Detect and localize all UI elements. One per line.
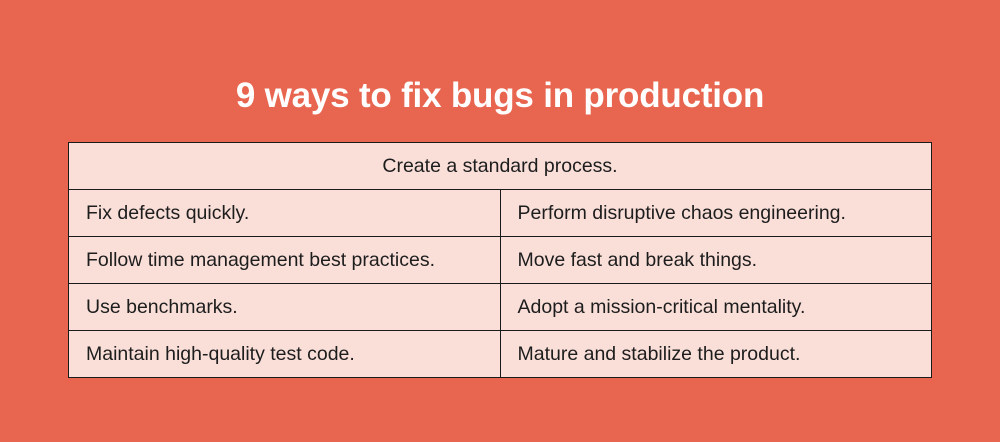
table-cell-right: Adopt a mission-critical mentality. — [500, 284, 932, 331]
table-row: Follow time management best practices. M… — [69, 237, 932, 284]
ways-table-container: Create a standard process. Fix defects q… — [68, 142, 932, 378]
table-cell-right: Mature and stabilize the product. — [500, 331, 932, 378]
table-row: Fix defects quickly. Perform disruptive … — [69, 190, 932, 237]
ways-table: Create a standard process. Fix defects q… — [68, 142, 932, 378]
table-cell-left: Fix defects quickly. — [69, 190, 501, 237]
table-cell-right: Perform disruptive chaos engineering. — [500, 190, 932, 237]
page-title: 9 ways to fix bugs in production — [0, 74, 1000, 118]
table-cell-left: Follow time management best practices. — [69, 237, 501, 284]
table-header-cell: Create a standard process. — [69, 143, 932, 190]
table-cell-left: Maintain high-quality test code. — [69, 331, 501, 378]
table-cell-left: Use benchmarks. — [69, 284, 501, 331]
table-row: Maintain high-quality test code. Mature … — [69, 331, 932, 378]
table-cell-right: Move fast and break things. — [500, 237, 932, 284]
infographic-page: 9 ways to fix bugs in production Create … — [0, 0, 1000, 442]
table-row: Use benchmarks. Adopt a mission-critical… — [69, 284, 932, 331]
table-row-header: Create a standard process. — [69, 143, 932, 190]
